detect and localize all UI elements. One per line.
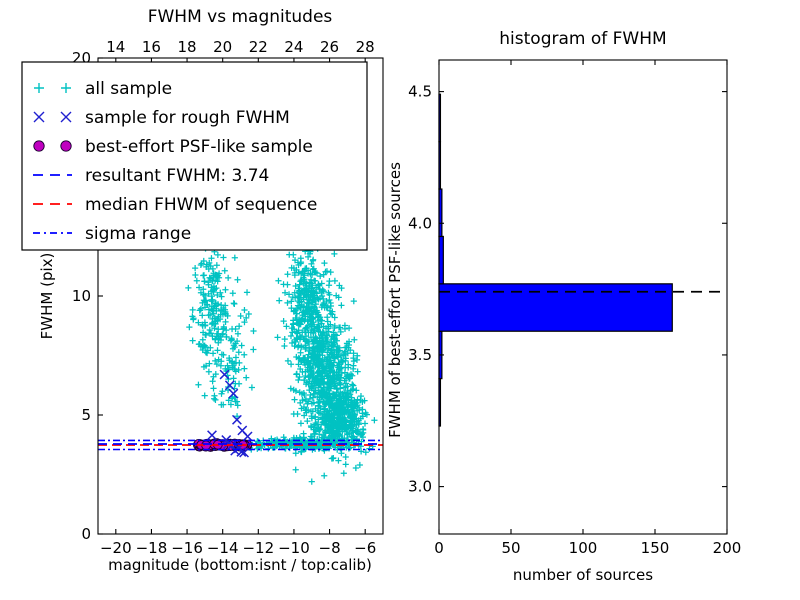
left-xticklabel-bottom: −18: [136, 539, 168, 557]
right-xticklabel: 0: [434, 539, 444, 557]
left-yticklabel: 10: [72, 287, 91, 305]
left-xticklabel-bottom: −14: [207, 539, 239, 557]
left-xaxis-label: magnitude (bottom:isnt / top:calib): [108, 556, 372, 574]
right-xaxis-label: number of sources: [513, 566, 653, 584]
left-xticklabel-bottom: −12: [242, 539, 274, 557]
left-yaxis-label: FWHM (pix): [38, 253, 56, 340]
left-yticklabel: 0: [81, 525, 91, 543]
figure-canvas: −20−18−16−14−12−10−8−6141618202224262805…: [0, 0, 800, 600]
left-xticklabel-bottom: −10: [278, 539, 310, 557]
left-xticklabel-top: 24: [284, 38, 303, 56]
left-xticklabel-bottom: −20: [100, 539, 132, 557]
circle-icon: [34, 141, 44, 151]
legend-item-label: all sample: [85, 79, 172, 99]
left-yticklabel: 5: [81, 406, 91, 424]
right-yticklabel: 4.5: [408, 83, 432, 101]
right-yticklabel: 4.0: [408, 214, 432, 232]
left-xticklabel-top: 20: [213, 38, 232, 56]
left-xticklabel-bottom: −6: [354, 539, 376, 557]
legend-item-label: sample for rough FWHM: [85, 108, 290, 128]
right-xticklabel: 200: [713, 539, 742, 557]
right-xticklabel: 150: [641, 539, 670, 557]
right-xticklabel: 50: [501, 539, 520, 557]
right-xticklabel: 100: [569, 539, 598, 557]
right-yticklabel: 3.0: [408, 478, 432, 496]
left-xticklabel-top: 14: [106, 38, 125, 56]
left-panel-title: FWHM vs magnitudes: [148, 7, 333, 27]
right-yticklabel: 3.5: [408, 346, 432, 364]
left-xticklabel-top: 26: [320, 38, 339, 56]
circle-icon: [61, 141, 71, 151]
left-xticklabel-top: 16: [142, 38, 161, 56]
left-xticklabel-top: 18: [178, 38, 197, 56]
left-xticklabel-top: 22: [249, 38, 268, 56]
histogram-bar: [439, 236, 443, 283]
right-histogram-panel: 0501001502003.03.54.04.5 histogram of FW…: [386, 29, 741, 584]
legend-item-label: median FHWM of sequence: [85, 195, 317, 215]
right-panel-title: histogram of FWHM: [499, 29, 666, 49]
legend-item-label: sigma range: [85, 224, 191, 244]
left-xticklabel-bottom: −16: [171, 539, 203, 557]
legend[interactable]: all samplesample for rough FWHMbest-effo…: [22, 62, 367, 250]
right-yaxis-label: FWHM of best-effort PSF-like sources: [386, 162, 404, 438]
left-xticklabel-bottom: −8: [319, 539, 341, 557]
legend-item-label: resultant FWHM: 3.74: [85, 166, 269, 186]
legend-item-label: best-effort PSF-like sample: [85, 137, 313, 157]
left-xticklabel-top: 28: [356, 38, 375, 56]
